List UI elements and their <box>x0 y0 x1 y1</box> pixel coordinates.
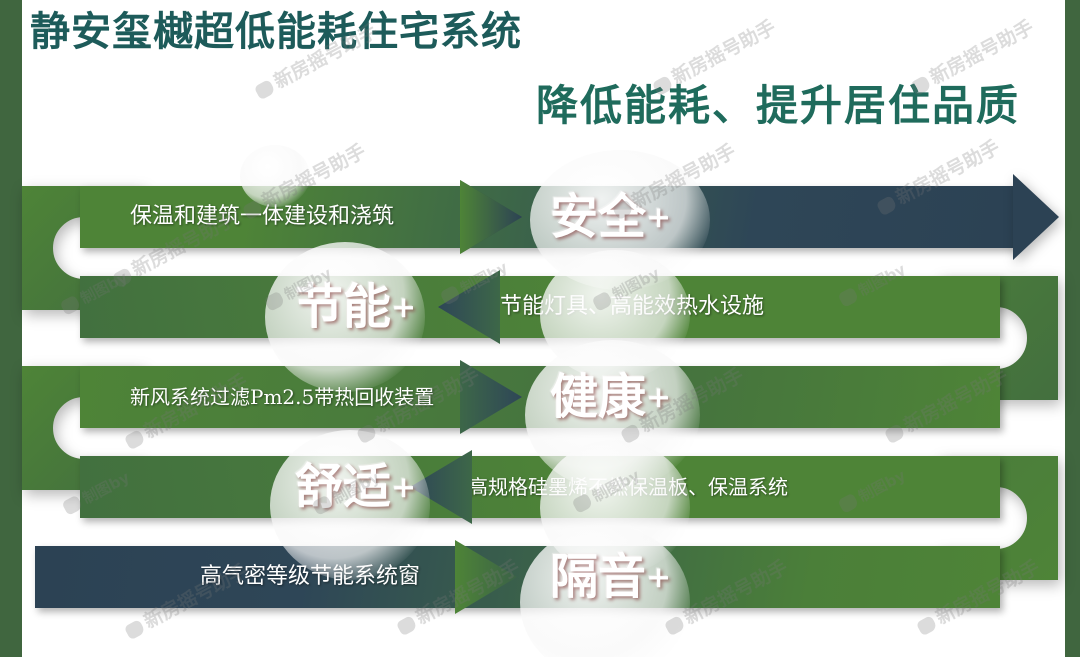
flow-row-3-keyword-text: 健康 <box>550 369 646 425</box>
flow-row-3-arrow-right-icon <box>460 354 534 440</box>
flow-row-3-description: 新风系统过滤Pm2.5带热回收装置 <box>130 366 434 428</box>
flow-row-2-keyword-plus: + <box>391 290 416 325</box>
flow-row-3[interactable]: 新风系统过滤Pm2.5带热回收装置 健康+ <box>80 366 1000 428</box>
slide-canvas: 静安玺樾超低能耗住宅系统 降低能耗、提升居住品质 <box>0 0 1080 657</box>
flow-row-5-keyword: 隔音+ <box>550 534 671 620</box>
flow-row-1-keyword-text: 安全 <box>550 189 646 245</box>
flow-row-2-keyword: 节能+ <box>295 264 416 350</box>
flow-row-5-keyword-plus: + <box>646 560 671 595</box>
flow-row-2[interactable]: 节能灯具、高能效热水设施 节能+ <box>80 276 1000 338</box>
flow-row-1-keyword: 安全+ <box>550 174 671 260</box>
flow-row-3-keyword-plus: + <box>646 380 671 415</box>
serpentine-flow-diagram: 保温和建筑一体建设和浇筑 安全+ 节能灯具、 <box>0 160 1080 657</box>
flow-row-4-keyword-plus: + <box>391 470 416 505</box>
flow-row-5-description: 高气密等级节能系统窗 <box>200 546 420 608</box>
flow-row-1[interactable]: 保温和建筑一体建设和浇筑 安全+ <box>80 186 1015 248</box>
flow-row-2-description: 节能灯具、高能效热水设施 <box>500 276 764 338</box>
flow-row-1-keyword-plus: + <box>646 200 671 235</box>
flow-row-1-terminal-arrow-icon <box>1013 174 1059 260</box>
page-title: 静安玺樾超低能耗住宅系统 <box>30 8 522 56</box>
flow-row-3-keyword: 健康+ <box>550 354 671 440</box>
page-subtitle: 降低能耗、提升居住品质 <box>0 80 1020 132</box>
flow-row-2-keyword-text: 节能 <box>295 279 391 335</box>
flow-row-4-description: 高规格硅墨烯不燃保温板、保温系统 <box>468 456 788 518</box>
flow-row-1-description: 保温和建筑一体建设和浇筑 <box>130 186 394 248</box>
flow-row-4-keyword: 舒适+ <box>295 444 416 530</box>
flow-row-2-arrow-left-icon <box>426 264 500 350</box>
flow-row-4[interactable]: 高规格硅墨烯不燃保温板、保温系统 舒适+ <box>80 456 1000 518</box>
flow-row-5-arrow-right-icon <box>455 534 529 620</box>
flow-row-1-arrow-right-icon <box>460 174 534 260</box>
flow-row-5[interactable]: 高气密等级节能系统窗 隔音+ <box>35 546 1000 608</box>
flow-row-5-keyword-text: 隔音 <box>550 549 646 605</box>
flow-row-4-keyword-text: 舒适 <box>295 459 391 515</box>
